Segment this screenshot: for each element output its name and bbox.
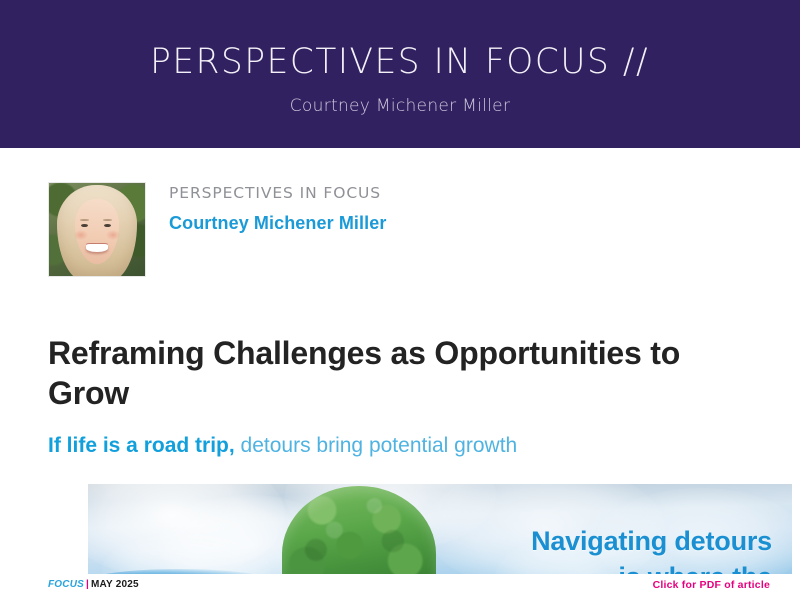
footer-brand: FOCUS xyxy=(48,579,84,590)
avatar-cheek-right xyxy=(106,230,120,240)
article-page: PERSPECTIVES IN FOCUS // Courtney Michen… xyxy=(0,0,800,600)
masthead-subtitle: Courtney Michener Miller xyxy=(290,96,510,116)
dek-rest: detours bring potential growth xyxy=(235,434,518,457)
footer-issue-date: MAY 2025 xyxy=(91,579,139,590)
masthead-title: PERSPECTIVES IN FOCUS // xyxy=(150,43,649,81)
page-title: Reframing Challenges as Opportunities to… xyxy=(48,333,748,413)
dek-lead: If life is a road trip, xyxy=(48,434,235,457)
byline-block: PERSPECTIVES IN FOCUS Courtney Michener … xyxy=(48,182,386,277)
byline-author-name[interactable]: Courtney Michener Miller xyxy=(169,212,386,234)
byline-kicker: PERSPECTIVES IN FOCUS xyxy=(169,184,386,203)
footer-issue-info: FOCUS|MAY 2025 xyxy=(48,578,139,592)
hero-pullquote-line-1: Navigating detours xyxy=(531,523,772,559)
page-footer: FOCUS|MAY 2025 Click for PDF of article xyxy=(0,574,800,600)
article-dek: If life is a road trip, detours bring po… xyxy=(48,432,768,460)
footer-separator: | xyxy=(86,579,89,590)
byline-text: PERSPECTIVES IN FOCUS Courtney Michener … xyxy=(169,182,386,234)
avatar-cheek-left xyxy=(74,230,88,240)
avatar xyxy=(48,182,146,277)
avatar-smile xyxy=(86,244,107,251)
pdf-download-link[interactable]: Click for PDF of article xyxy=(653,578,770,592)
masthead-banner: PERSPECTIVES IN FOCUS // Courtney Michen… xyxy=(0,0,800,148)
